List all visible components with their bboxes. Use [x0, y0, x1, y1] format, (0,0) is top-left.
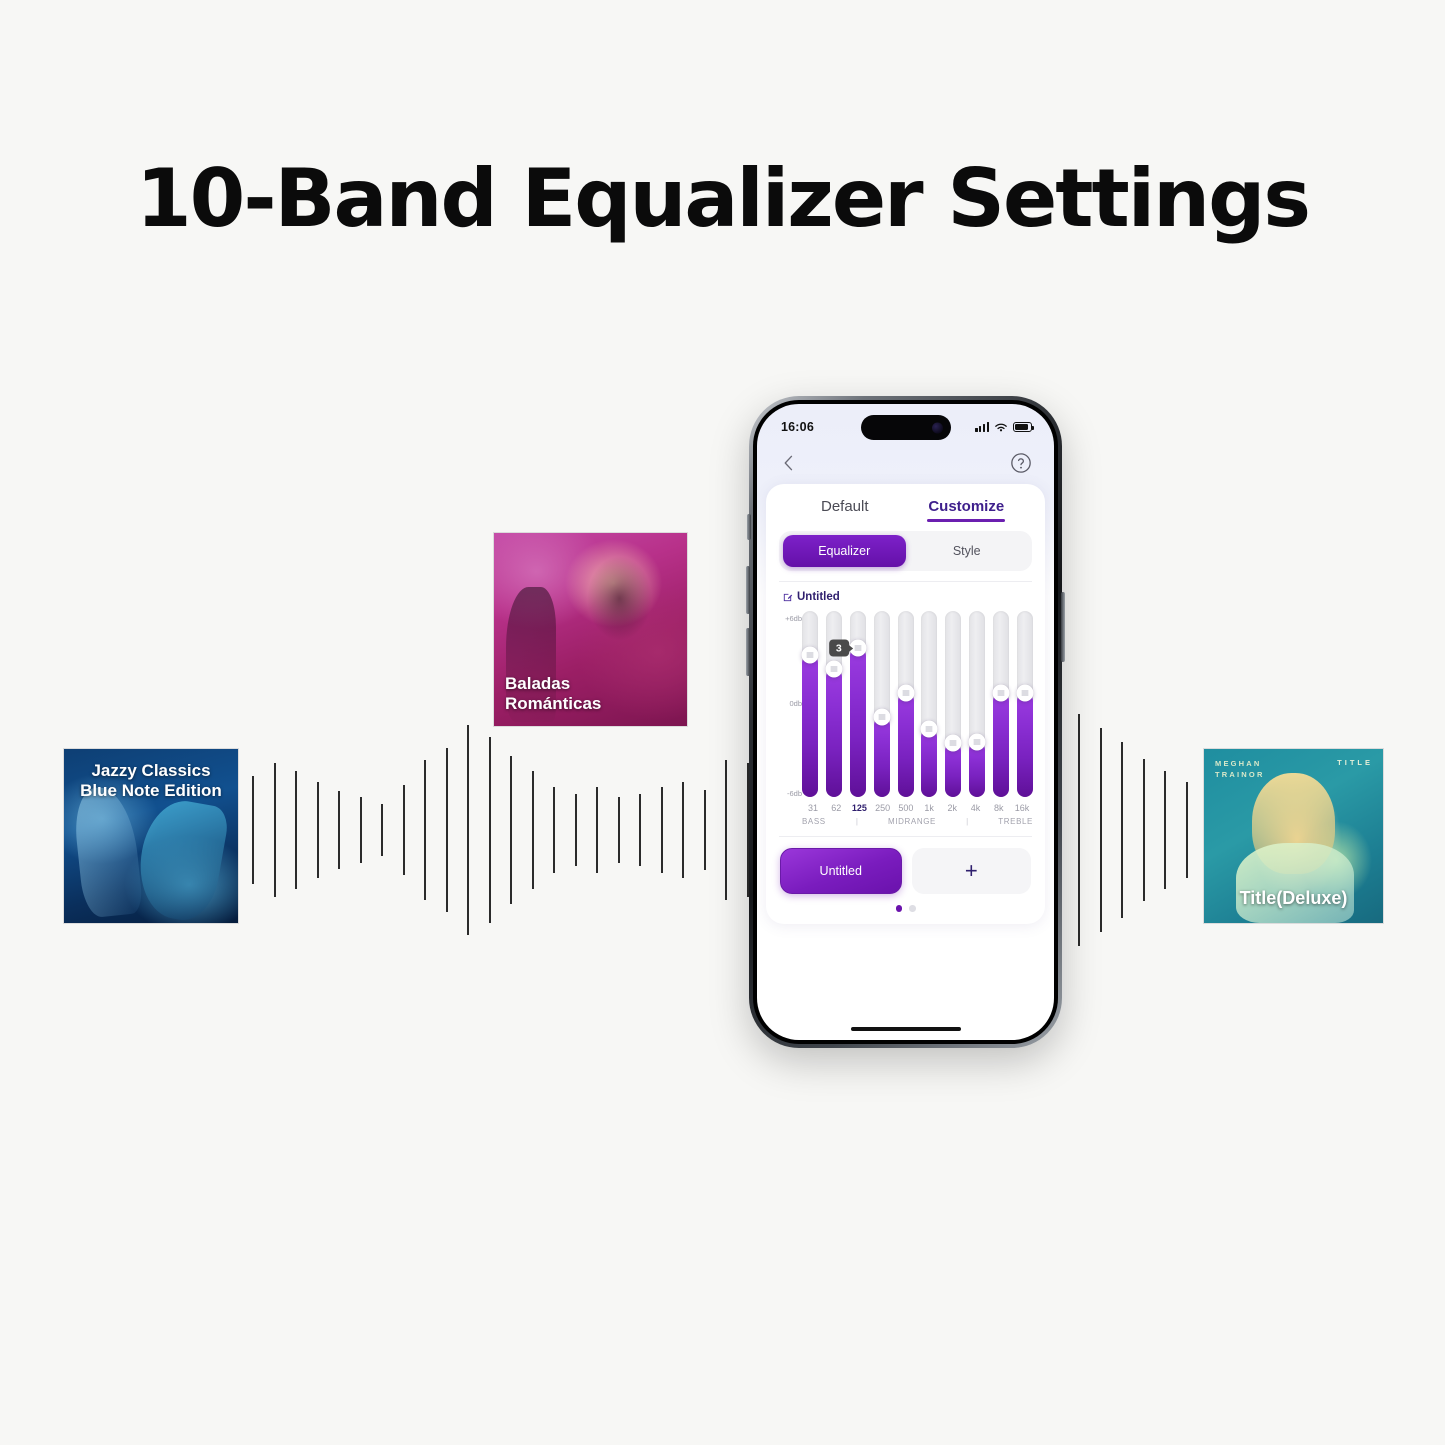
- waveform-bar: [467, 725, 469, 936]
- eq-slider-fill: [1017, 693, 1033, 797]
- pagination-dot-2[interactable]: [909, 905, 916, 912]
- equalizer-card: Default Customize Equalizer Style Untitl…: [766, 484, 1045, 924]
- eq-slider-125[interactable]: [850, 611, 866, 797]
- main-tabs: Default Customize: [766, 494, 1045, 522]
- waveform-bar: [1078, 714, 1080, 947]
- album-cover-jazzy-classics[interactable]: Jazzy Classics Blue Note Edition: [63, 748, 239, 924]
- eq-slider-thumb[interactable]: [873, 708, 890, 725]
- frequency-label-2k: 2k: [941, 803, 963, 813]
- eq-slider-thumb[interactable]: [921, 721, 938, 738]
- waveform-bar: [639, 794, 641, 865]
- phone-screen: 16:06: [757, 404, 1054, 1040]
- front-camera-icon: [932, 422, 943, 433]
- chevron-left-icon[interactable]: [779, 453, 799, 473]
- db-label-min: -6db: [787, 789, 802, 798]
- eq-slider-250[interactable]: [874, 611, 890, 797]
- band-separator: |: [856, 817, 858, 826]
- preset-name-label: Untitled: [797, 591, 840, 603]
- waveform-bar: [532, 771, 534, 889]
- question-mark-circle-icon[interactable]: [1010, 452, 1032, 474]
- power-button[interactable]: [1061, 592, 1065, 662]
- divider: [779, 581, 1032, 582]
- band-group-labels: BASS | MIDRANGE | TREBLE: [776, 817, 1035, 826]
- eq-slider-thumb[interactable]: [993, 684, 1010, 701]
- eq-slider-thumb[interactable]: [945, 735, 962, 752]
- album-cover-baladas-romanticas[interactable]: Baladas Románticas: [493, 532, 688, 727]
- waveform-right: [1078, 680, 1188, 980]
- volume-down-button[interactable]: [746, 628, 750, 676]
- wifi-icon: [994, 422, 1008, 433]
- preset-name-row[interactable]: Untitled: [782, 591, 1045, 603]
- eq-slider-31[interactable]: [802, 611, 818, 797]
- tab-default[interactable]: Default: [784, 498, 906, 522]
- album-caption-line1: Baladas: [505, 674, 687, 694]
- album-caption-line2: Románticas: [505, 694, 687, 714]
- segment-equalizer[interactable]: Equalizer: [783, 535, 906, 567]
- waveform-bar: [510, 756, 512, 905]
- eq-slider-500[interactable]: [898, 611, 914, 797]
- db-label-max: +6db: [785, 614, 802, 623]
- preset-row: Untitled +: [780, 848, 1031, 894]
- eq-slider-16k[interactable]: [1017, 611, 1033, 797]
- frequency-label-1k: 1k: [918, 803, 940, 813]
- waveform-bar: [596, 787, 598, 874]
- album-caption-title-deluxe: Title(Deluxe): [1204, 888, 1383, 909]
- add-preset-button[interactable]: +: [912, 848, 1032, 894]
- nav-row: [757, 446, 1054, 480]
- eq-slider-1k[interactable]: [921, 611, 937, 797]
- album-caption-line1: Title(Deluxe): [1204, 888, 1383, 909]
- album-caption-line1: Jazzy Classics: [70, 761, 232, 781]
- eq-slider-4k[interactable]: [969, 611, 985, 797]
- waveform-bar: [381, 804, 383, 857]
- waveform-bar: [338, 791, 340, 869]
- waveform-bar: [489, 737, 491, 923]
- phone-bezel: 16:06: [753, 400, 1058, 1044]
- home-indicator: [851, 1027, 961, 1031]
- segment-style[interactable]: Style: [906, 535, 1029, 567]
- waveform-bar: [1164, 771, 1166, 889]
- status-icons: [975, 422, 1032, 433]
- waveform-bar: [1143, 759, 1145, 902]
- db-scale-labels: +6db 0db -6db: [776, 611, 802, 799]
- pagination-dot-1[interactable]: [896, 905, 903, 912]
- waveform-bar: [252, 776, 254, 885]
- edit-square-icon[interactable]: [782, 592, 793, 603]
- album-title-name: TITLE: [1337, 758, 1373, 767]
- eq-slider-2k[interactable]: [945, 611, 961, 797]
- waveform-bar: [1186, 782, 1188, 878]
- pagination-dots: [766, 905, 1045, 912]
- eq-slider-thumb[interactable]: [897, 684, 914, 701]
- eq-slider-fill: [921, 729, 937, 797]
- slider-value-tooltip: 3: [829, 640, 849, 657]
- waveform-bar: [575, 794, 577, 865]
- battery-icon: [1013, 422, 1032, 432]
- frequency-label-8k: 8k: [988, 803, 1010, 813]
- status-time: 16:06: [781, 420, 814, 434]
- waveform-bar: [725, 760, 727, 900]
- eq-slider-fill: [826, 669, 842, 797]
- waveform-bar: [618, 797, 620, 862]
- frequency-label-16k: 16k: [1011, 803, 1033, 813]
- eq-slider-fill: [802, 655, 818, 797]
- eq-slider-fill: [993, 693, 1009, 797]
- segmented-control: Equalizer Style: [779, 531, 1032, 571]
- waveform-bar: [682, 782, 684, 878]
- frequency-label-500: 500: [895, 803, 917, 813]
- page-title: 10-Band Equalizer Settings: [0, 152, 1445, 245]
- band-separator: |: [966, 817, 968, 826]
- frequency-label-4k: 4k: [965, 803, 987, 813]
- silent-switch[interactable]: [747, 514, 751, 540]
- waveform-bar: [1121, 742, 1123, 919]
- eq-slider-thumb[interactable]: [1016, 684, 1033, 701]
- waveform-bar: [317, 782, 319, 878]
- divider: [779, 836, 1032, 837]
- waveform-bar: [274, 763, 276, 896]
- waveform-bar: [403, 785, 405, 875]
- preset-button-untitled[interactable]: Untitled: [780, 848, 902, 894]
- signal-bars-icon: [975, 422, 989, 432]
- album-caption-line2: Blue Note Edition: [70, 781, 232, 801]
- album-caption-baladas-romanticas: Baladas Románticas: [505, 674, 687, 714]
- eq-slider-thumb[interactable]: [825, 661, 842, 678]
- waveform-bar: [360, 797, 362, 862]
- album-artist-name: MEGHANTRAINOR: [1215, 758, 1265, 781]
- waveform-bar: [424, 760, 426, 900]
- eq-slider-fill: [874, 717, 890, 797]
- tab-customize[interactable]: Customize: [906, 498, 1028, 522]
- waveform-bar: [1100, 728, 1102, 933]
- volume-up-button[interactable]: [746, 566, 750, 614]
- album-cover-title-deluxe[interactable]: MEGHANTRAINOR TITLE Title(Deluxe): [1203, 748, 1384, 924]
- frequency-label-125: 125: [848, 803, 870, 813]
- waveform-bar: [661, 787, 663, 874]
- frequency-label-31: 31: [802, 803, 824, 813]
- waveform-bar: [446, 748, 448, 912]
- eq-slider-fill: [850, 648, 866, 797]
- eq-slider-thumb[interactable]: [802, 647, 819, 664]
- dynamic-island: [861, 415, 951, 440]
- eq-slider-8k[interactable]: [993, 611, 1009, 797]
- band-label-treble: TREBLE: [998, 817, 1033, 826]
- frequency-label-250: 250: [872, 803, 894, 813]
- waveform-bar: [704, 790, 706, 871]
- frequency-label-62: 62: [825, 803, 847, 813]
- waveform-bar: [553, 787, 555, 874]
- band-label-midrange: MIDRANGE: [888, 817, 936, 826]
- equalizer-sliders-area: +6db 0db -6db 3: [776, 611, 1035, 799]
- frequency-labels: 31621252505001k2k4k8k16k: [776, 803, 1035, 813]
- waveform-bar: [295, 771, 297, 889]
- db-label-zero: 0db: [789, 699, 802, 708]
- phone-mockup: 16:06: [749, 396, 1062, 1048]
- eq-slider-thumb[interactable]: [969, 733, 986, 750]
- eq-slider-fill: [898, 693, 914, 797]
- album-caption-jazzy-classics: Jazzy Classics Blue Note Edition: [64, 761, 238, 801]
- band-label-bass: BASS: [802, 817, 826, 826]
